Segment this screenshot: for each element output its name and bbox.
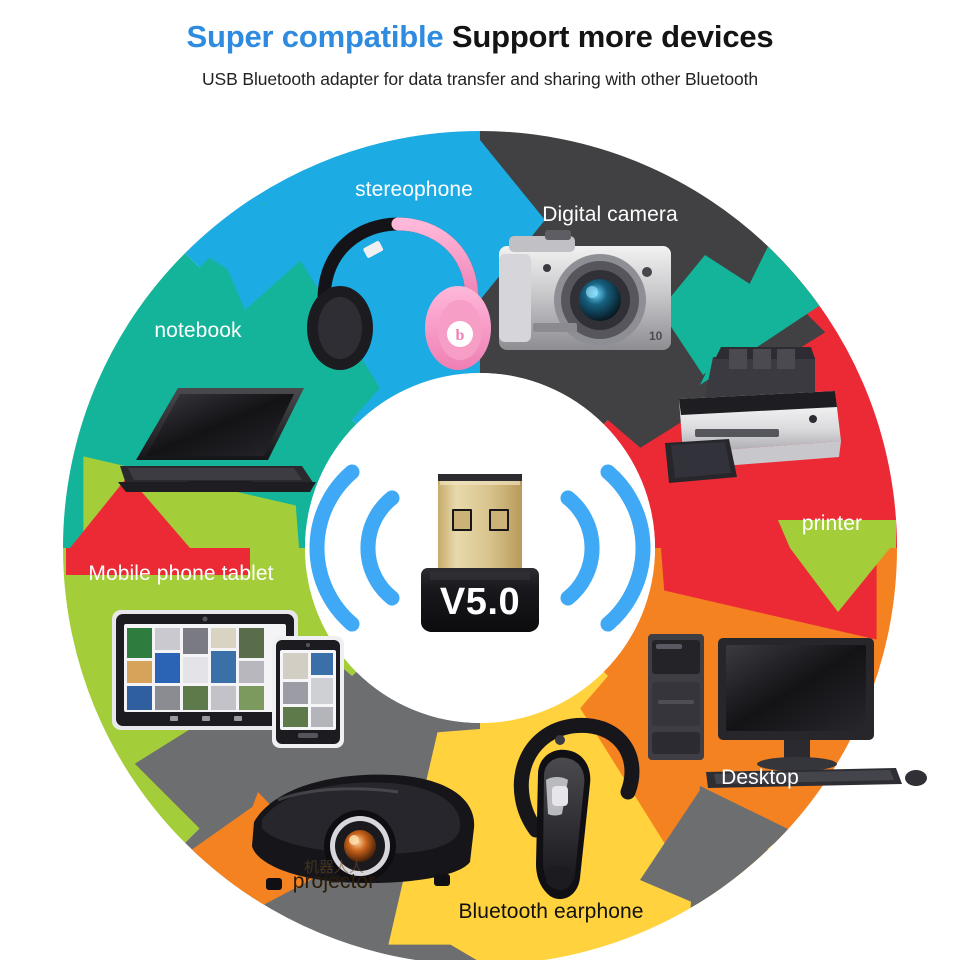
segment-label-projector: projector — [293, 870, 376, 893]
chevron-camera-to-printer-b — [700, 247, 828, 386]
laptop-icon — [118, 388, 316, 492]
projector-icon — [252, 775, 474, 890]
segment-projector[interactable] — [580, 548, 897, 893]
dongle-body — [421, 568, 539, 632]
desktop-computer-icon — [648, 634, 927, 788]
camera-icon: 10 — [499, 230, 671, 350]
segment-notebook-fill — [480, 131, 775, 424]
chevron-camera-to-printer — [660, 255, 790, 375]
printer-icon — [665, 347, 841, 483]
segment-label-notebook: notebook — [154, 319, 242, 342]
chevron-stereophone — [388, 151, 571, 367]
center-disc — [305, 373, 655, 723]
compatibility-wheel: b 10 — [0, 0, 960, 960]
chevron-mobile-phone-tablet — [661, 456, 877, 639]
header: Super compatible Support more devices US… — [0, 0, 960, 90]
chevron-projector-to-mobile — [192, 800, 318, 912]
wheel-segments — [63, 131, 897, 960]
dongle-version-label: V5.0 — [440, 581, 520, 623]
segment-labels: notebook stereophone Digital camera prin… — [88, 178, 862, 923]
chevron-earphone-to-projector-b — [418, 838, 480, 960]
chevron-stereophone-to-notebook — [192, 182, 303, 288]
bluetooth-headset-icon — [521, 725, 632, 899]
headline-main: Support more devices — [452, 19, 774, 54]
chevron-earphone-to-projector — [412, 880, 480, 960]
segment-mobile-phone-tablet[interactable] — [604, 253, 897, 639]
chevron-notebook — [580, 203, 825, 448]
page-title: Super compatible Support more devices — [0, 18, 960, 56]
segment-digital-camera-fill — [63, 253, 356, 548]
chevron-desktop-to-earphone — [640, 790, 768, 908]
segment-label-stereophone: stereophone — [355, 178, 473, 201]
segment-bluetooth-earphone-fill — [480, 672, 775, 960]
chevron-mobile-to-notebook-b — [66, 548, 250, 575]
segment-label-digital-camera: Digital camera — [542, 203, 678, 226]
segment-printer[interactable] — [63, 456, 356, 843]
chevron-digital-camera — [135, 203, 380, 448]
headphones-icon: b — [307, 224, 491, 370]
segment-mobile-phone-tablet-fill — [604, 253, 897, 548]
usb-contact-pad-right — [489, 509, 509, 531]
segment-label-printer: printer — [802, 512, 862, 535]
usb-connector — [438, 474, 522, 576]
segment-printer-fill — [63, 548, 356, 843]
chevron-bluetooth-earphone — [388, 729, 571, 945]
segment-stereophone-fill — [185, 131, 480, 424]
chevron-projector-to-mobile-b — [215, 792, 330, 906]
chevron-mobile-to-notebook — [70, 476, 190, 548]
chevron-printer-to-desktop-b — [778, 520, 896, 548]
segment-label-desktop: Desktop — [721, 766, 799, 789]
svg-text:b: b — [456, 327, 465, 344]
chevron-printer — [83, 456, 299, 639]
tablet-and-phone-icon — [112, 610, 344, 748]
segment-desktop[interactable] — [135, 648, 480, 960]
svg-text:10: 10 — [649, 329, 663, 343]
chevron-printer-to-desktop — [790, 548, 890, 612]
chevron-projector — [580, 648, 825, 893]
chevron-stereophone-to-camera — [480, 140, 545, 300]
segment-label-mobile-phone-tablet: Mobile phone tablet — [88, 562, 273, 585]
page-subtitle: USB Bluetooth adapter for data transfer … — [0, 68, 960, 90]
segment-notebook[interactable] — [480, 131, 825, 448]
usb-bluetooth-dongle: V5.0 — [317, 472, 643, 632]
chevron-desktop-to-earphone-b — [690, 786, 790, 915]
headline-accent: Super compatible — [187, 19, 444, 54]
segment-stereophone[interactable] — [185, 131, 571, 424]
signal-arcs-right — [568, 472, 643, 624]
signal-arcs-left — [317, 472, 392, 624]
wheel-chevrons — [66, 140, 896, 960]
usb-contact-pad-left — [452, 509, 472, 531]
segment-projector-fill — [604, 548, 897, 843]
segment-label-bluetooth-earphone: Bluetooth earphone — [458, 900, 643, 923]
segment-bluetooth-earphone[interactable] — [388, 672, 775, 960]
chevron-stereophone-to-notebook-b — [214, 193, 309, 310]
segment-digital-camera[interactable] — [63, 203, 380, 548]
segment-desktop-fill — [185, 672, 480, 960]
chevron-desktop — [135, 648, 380, 893]
watermark-cjk: 机器人人 — [304, 858, 364, 876]
